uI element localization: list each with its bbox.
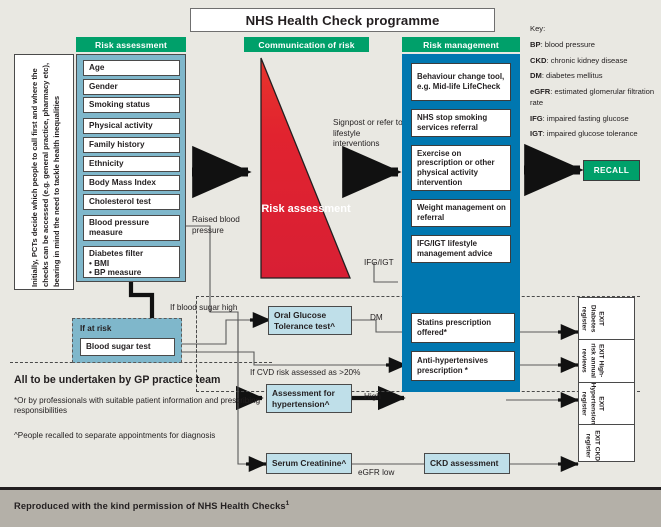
key-legend: Key: BP: blood pressure CKD: chronic kid… <box>530 24 656 145</box>
recall-label: RECALL <box>594 166 630 175</box>
key-def-ifg: impaired fasting glucose <box>547 114 629 123</box>
rm-item-anti-hypertensives[interactable]: Anti-hypertensives prescription * <box>411 351 515 381</box>
key-entry-dm: DM: diabetes mellitus <box>530 71 656 82</box>
label-if-at-risk: If at risk <box>80 324 111 335</box>
label-high: High <box>364 392 381 403</box>
footer-credit-superscript: 1 <box>286 500 290 507</box>
label-signpost: Signpost or refer to lifestyle intervent… <box>333 118 403 150</box>
exit-register-diabetes-label: EXIT Diabetes register <box>579 298 620 339</box>
box-serum-creatinine[interactable]: Serum Creatinine^ <box>266 453 352 474</box>
footer-credit-text: Reproduced with the kind permission of N… <box>14 501 286 511</box>
pct-note-box: Initially, PCTs decide which people to c… <box>14 54 74 290</box>
key-abbr-ifg: IFG <box>530 114 543 123</box>
footer-credit: Reproduced with the kind permission of N… <box>14 500 289 511</box>
box-assessment-for-hypertension[interactable]: Assessment for hypertension^ <box>266 384 352 413</box>
page-title-text: NHS Health Check programme <box>246 13 440 28</box>
box-blood-sugar-test[interactable]: Blood sugar test <box>80 338 175 356</box>
diagram-root: NHS Health Check programme Initially, PC… <box>0 0 661 527</box>
exit-register-hypertension-label: EXIT Hypertension register <box>579 383 620 424</box>
at-risk-group: If at risk Blood sugar test <box>72 318 182 363</box>
footer-bar: Reproduced with the kind permission of N… <box>0 490 661 527</box>
key-abbr-dm: DM <box>530 71 542 80</box>
page-title: NHS Health Check programme <box>190 8 495 32</box>
key-entry-ckd: CKD: chronic kidney disease <box>530 56 656 67</box>
ra-item-physical-activity[interactable]: Physical activity <box>83 118 180 134</box>
label-if-blood-sugar-high: If blood sugar high <box>170 303 237 314</box>
key-def-bp: blood pressure <box>545 40 595 49</box>
ra-item-blood-pressure-measure[interactable]: Blood pressure measure <box>83 215 180 241</box>
rm-item-ifg-igt-lifestyle-advice[interactable]: IFG/IGT lifestyle management advice <box>411 235 511 263</box>
key-entry-bp: BP: blood pressure <box>530 40 656 51</box>
ra-item-gender[interactable]: Gender <box>83 79 180 95</box>
rm-item-statins-prescription[interactable]: Statins prescription offered* <box>411 313 515 343</box>
key-def-dm: diabetes mellitus <box>546 71 603 80</box>
key-def-igt: impaired glucose tolerance <box>547 129 638 138</box>
ra-item-smoking-status[interactable]: Smoking status <box>83 97 180 113</box>
key-entry-egfr: eGFR: estimated glomerular filtration ra… <box>530 87 656 109</box>
ra-item-family-history[interactable]: Family history <box>83 137 180 153</box>
column-header-risk-assessment: Risk assessment <box>76 37 186 52</box>
box-oral-glucose-tolerance-test[interactable]: Oral Glucose Tolerance test^ <box>268 306 352 335</box>
column-header-communication-of-risk-label: Communication of risk <box>258 40 354 50</box>
key-def-ckd: chronic kidney disease <box>551 56 628 65</box>
ra-item-cholesterol-test[interactable]: Cholesterol test <box>83 194 180 210</box>
rm-item-exercise-on-prescription[interactable]: Exercise on prescription or other physic… <box>411 145 511 191</box>
gp-practice-note: All to be undertaken by GP practice team… <box>14 374 272 442</box>
key-abbr-ckd: CKD <box>530 56 546 65</box>
column-header-risk-assessment-label: Risk assessment <box>95 40 167 50</box>
exit-register-hypertension[interactable]: EXIT Hypertension register <box>579 383 634 425</box>
diagram-canvas: NHS Health Check programme Initially, PC… <box>0 0 661 490</box>
gp-note-caret: ^People recalled to separate appointment… <box>14 431 272 442</box>
exit-register-column: EXIT Diabetes register EXIT High-risk an… <box>578 297 635 462</box>
ra-item-ethnicity[interactable]: Ethnicity <box>83 156 180 172</box>
risk-triangle: Risk assessment <box>260 57 352 279</box>
gp-note-star: *Or by professionals with suitable patie… <box>14 396 272 417</box>
risk-assessment-panel: Age Gender Smoking status Physical activ… <box>76 54 186 282</box>
column-header-communication-of-risk: Communication of risk <box>244 37 369 52</box>
gp-note-heading: All to be undertaken by GP practice team <box>14 374 272 388</box>
risk-triangle-label: Risk assessment <box>260 203 352 217</box>
ra-item-age[interactable]: Age <box>83 60 180 76</box>
key-entry-ifg: IFG: impaired fasting glucose <box>530 114 656 125</box>
box-ckd-assessment[interactable]: CKD assessment <box>424 453 510 474</box>
ra-item-body-mass-index[interactable]: Body Mass Index <box>83 175 180 191</box>
exit-register-diabetes[interactable]: EXIT Diabetes register <box>579 298 634 340</box>
key-abbr-egfr: eGFR <box>530 87 550 96</box>
rm-item-behaviour-change-tool[interactable]: Behaviour change tool, e.g. Mid-life Lif… <box>411 63 511 101</box>
key-entry-igt: IGT: impaired glucose tolerance <box>530 129 656 140</box>
key-abbr-bp: BP <box>530 40 541 49</box>
label-raised-blood-pressure: Raised blood pressure <box>192 215 252 236</box>
label-ifg-igt: IFG/IGT <box>364 258 394 269</box>
rm-item-weight-management[interactable]: Weight management on referral <box>411 199 511 227</box>
recall-button[interactable]: RECALL <box>583 160 640 181</box>
column-header-risk-management: Risk management <box>402 37 520 52</box>
exit-register-ckd[interactable]: EXIT CKD register <box>579 425 634 466</box>
exit-register-high-risk[interactable]: EXIT High-risk annual reviews <box>579 340 634 382</box>
rm-item-stop-smoking-referral[interactable]: NHS stop smoking services referral <box>411 109 511 137</box>
risk-management-panel: Behaviour change tool, e.g. Mid-life Lif… <box>402 54 520 392</box>
exit-register-ckd-label: EXIT CKD register <box>579 425 620 466</box>
key-abbr-igt: IGT <box>530 129 543 138</box>
column-header-risk-management-label: Risk management <box>423 40 499 50</box>
exit-register-high-risk-label: EXIT High-risk annual reviews <box>579 340 620 381</box>
key-title: Key: <box>530 24 656 35</box>
label-egfr-low: eGFR low <box>358 468 394 479</box>
pct-note-text: Initially, PCTs decide which people to c… <box>15 55 75 291</box>
label-dm: DM <box>370 313 383 324</box>
ra-item-diabetes-filter[interactable]: Diabetes filter • BMI • BP measure <box>83 246 180 278</box>
